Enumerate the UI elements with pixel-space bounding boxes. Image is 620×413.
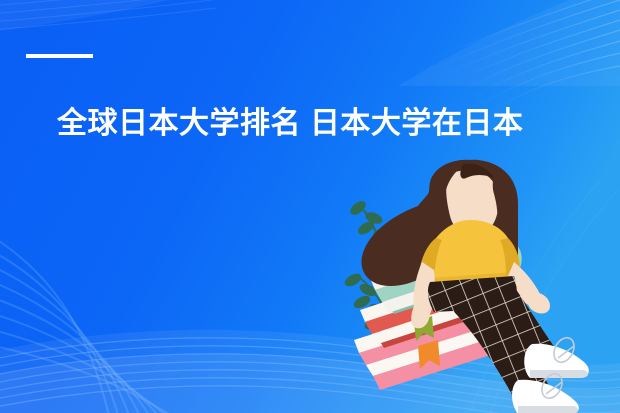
pants-seat (428, 276, 517, 312)
bottom-left-arc-lines (0, 210, 194, 413)
promo-banner: 全球日本大学排名 日本大学在日本 (0, 0, 620, 413)
page-title: 全球日本大学排名 日本大学在日本 (57, 104, 597, 144)
top-left-ray-lines (0, 0, 216, 30)
top-right-band (398, 0, 620, 86)
accent-rule (26, 54, 93, 58)
top-right-ray-lines (430, 0, 620, 116)
illustration-woman-on-books (318, 158, 620, 413)
top-left-band (0, 0, 210, 32)
hand-right (528, 292, 551, 313)
